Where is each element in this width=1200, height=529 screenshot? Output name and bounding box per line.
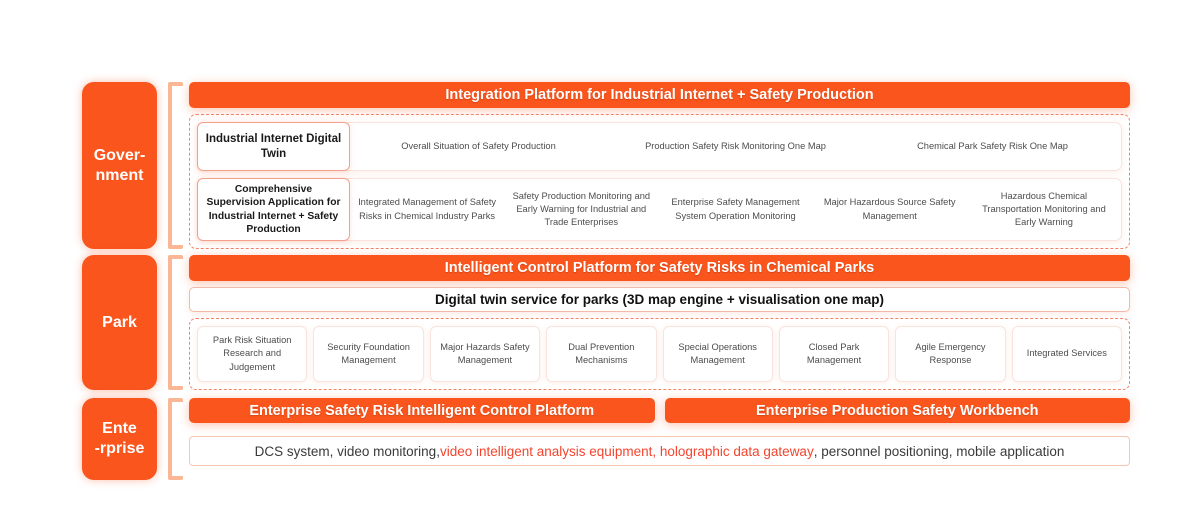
tier-label-park-text: Park [102,313,137,333]
park-capability-card[interactable]: Special Operations Management [663,326,773,382]
park-digital-twin-service-bar[interactable]: Digital twin service for parks (3D map e… [189,287,1130,312]
highlight-card-industrial-internet-digital-twin[interactable]: Industrial Internet Digital Twin [197,122,350,171]
capability-cell[interactable]: Chemical Park Safety Risk One Map [864,137,1121,156]
park-capability-card[interactable]: Security Foundation Management [313,326,423,382]
device-list-part-2: , personnel positioning, mobile applicat… [814,444,1065,459]
park-card-strip: Park Risk Situation Research and Judgeme… [197,326,1122,382]
tier-label-government: Gover- nment [82,82,157,249]
park-capability-card[interactable]: Closed Park Management [779,326,889,382]
capability-cell[interactable]: Overall Situation of Safety Production [350,137,607,156]
government-platform-bar[interactable]: Integration Platform for Industrial Inte… [189,82,1130,108]
architecture-diagram: Gover- nment Integration Platform for In… [0,0,1200,529]
capability-cell[interactable]: Safety Production Monitoring and Early W… [504,187,658,233]
park-capability-card[interactable]: Major Hazards Safety Management [430,326,540,382]
government-row-digital-twin: Industrial Internet Digital Twin Overall… [197,122,1122,171]
tier-body-government: Integration Platform for Industrial Inte… [189,82,1130,249]
bracket-park [165,255,183,390]
bracket-government [165,82,183,249]
tier-label-enterprise: Ente -rprise [82,398,157,480]
park-capability-card[interactable]: Agile Emergency Response [895,326,1005,382]
capability-cell[interactable]: Hazardous Chemical Transportation Monito… [967,187,1121,233]
enterprise-production-safety-workbench-bar[interactable]: Enterprise Production Safety Workbench [665,398,1131,423]
government-row-1-cells: Overall Situation of Safety Production P… [350,123,1121,170]
park-capability-group: Park Risk Situation Research and Judgeme… [189,318,1130,390]
tier-enterprise: Ente -rprise Enterprise Safety Risk Inte… [82,398,1130,480]
capability-cell[interactable]: Major Hazardous Source Safety Management [813,193,967,225]
enterprise-safety-risk-control-platform-bar[interactable]: Enterprise Safety Risk Intelligent Contr… [189,398,655,423]
tier-government: Gover- nment Integration Platform for In… [82,82,1130,249]
tier-body-park: Intelligent Control Platform for Safety … [189,255,1130,390]
park-capability-card[interactable]: Integrated Services [1012,326,1122,382]
park-capability-card[interactable]: Dual Prevention Mechanisms [546,326,656,382]
tier-label-government-text: Gover- nment [94,146,146,186]
capability-cell[interactable]: Enterprise Safety Management System Oper… [658,193,812,225]
capability-cell[interactable]: Production Safety Risk Monitoring One Ma… [607,137,864,156]
enterprise-platform-bars: Enterprise Safety Risk Intelligent Contr… [189,398,1130,423]
bracket-enterprise [165,398,183,480]
device-list-highlight: video intelligent analysis equipment, ho… [440,444,814,459]
capability-cell[interactable]: Integrated Management of Safety Risks in… [350,193,504,225]
government-capability-group: Industrial Internet Digital Twin Overall… [189,114,1130,249]
enterprise-device-list: DCS system, video monitoring, video inte… [189,436,1130,466]
tier-label-park: Park [82,255,157,390]
highlight-card-comprehensive-supervision-application[interactable]: Comprehensive Supervision Application fo… [197,178,350,241]
tier-park: Park Intelligent Control Platform for Sa… [82,255,1130,390]
government-row-comprehensive-supervision: Comprehensive Supervision Application fo… [197,178,1122,241]
park-capability-card[interactable]: Park Risk Situation Research and Judgeme… [197,326,307,382]
government-row-2-cells: Integrated Management of Safety Risks in… [350,179,1121,240]
device-list-part-1: DCS system, video monitoring, [255,444,440,459]
tier-body-enterprise: Enterprise Safety Risk Intelligent Contr… [189,398,1130,480]
park-platform-bar[interactable]: Intelligent Control Platform for Safety … [189,255,1130,281]
tier-label-enterprise-text: Ente -rprise [95,419,145,459]
